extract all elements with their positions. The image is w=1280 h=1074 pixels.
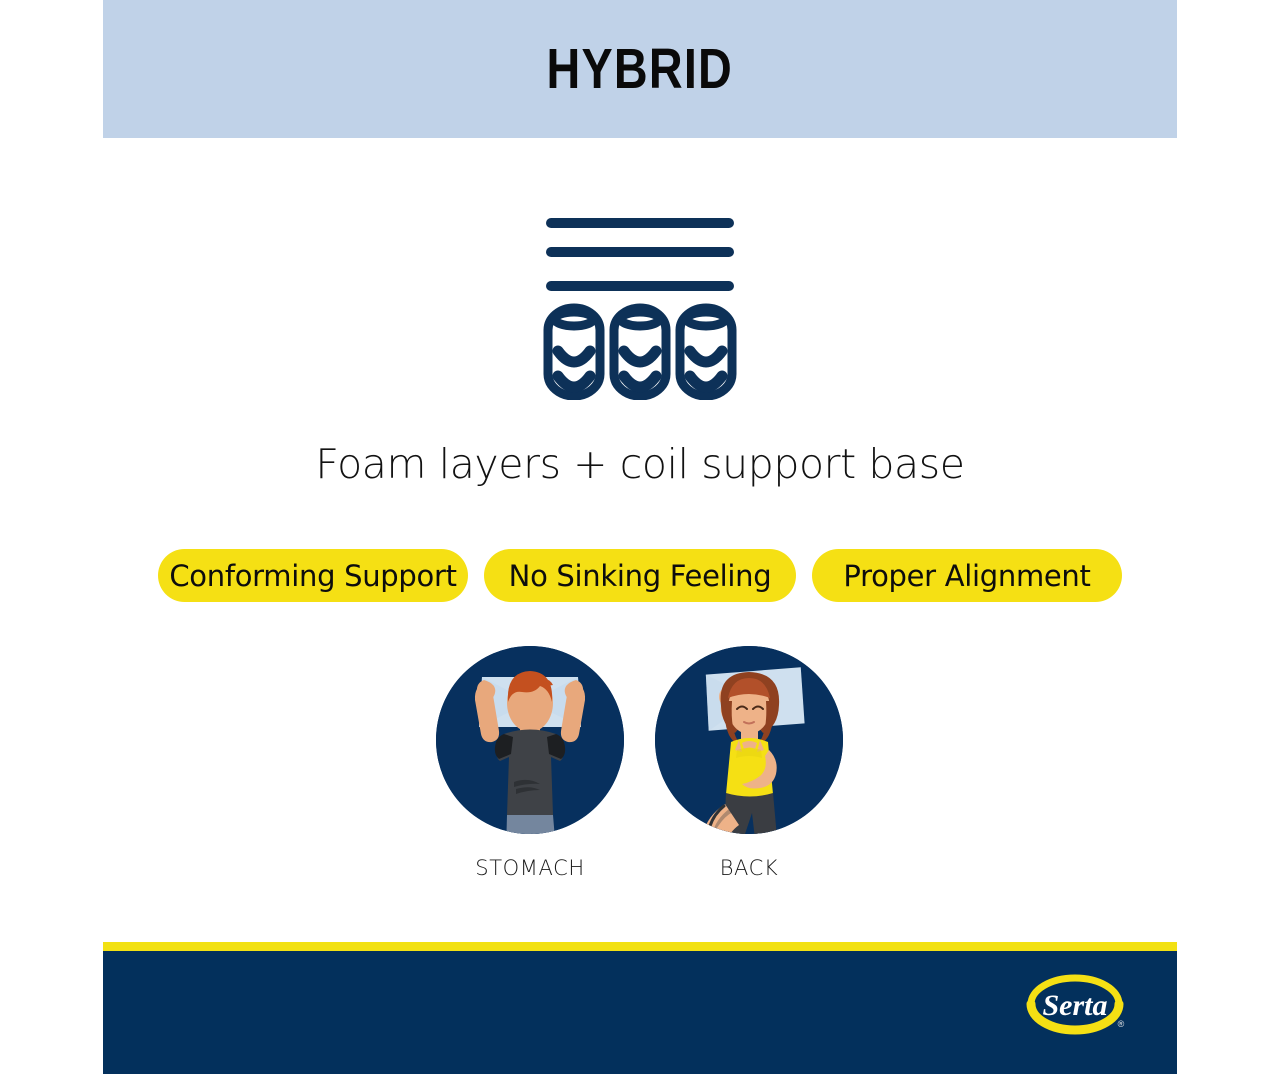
content-card: HYBRID	[103, 0, 1177, 1074]
registered-mark: ®	[1118, 1019, 1125, 1029]
back-sleeper-illustration	[655, 646, 843, 834]
coil-2	[614, 308, 666, 396]
subtitle: Foam layers + coil support base	[103, 440, 1177, 488]
back-sleeper-circle	[655, 646, 843, 834]
benefit-pill-conforming-support[interactable]: Conforming Support	[158, 549, 468, 602]
footer-accent-rule	[103, 942, 1177, 951]
serta-wordmark: Serta	[1042, 989, 1107, 1022]
sleep-position-label: STOMACH	[430, 856, 630, 880]
stomach-sleeper-circle	[436, 646, 624, 834]
hybrid-mattress-icon	[540, 200, 740, 400]
benefit-pill-label: No Sinking Feeling	[509, 559, 772, 593]
coil-1	[548, 308, 600, 396]
footer-bar: Serta ®	[103, 951, 1177, 1074]
benefit-pill-no-sinking-feeling[interactable]: No Sinking Feeling	[484, 549, 796, 602]
header-band: HYBRID	[103, 0, 1177, 138]
hybrid-icon-container	[103, 196, 1177, 404]
page-title: HYBRID	[547, 36, 734, 102]
benefit-pill-label: Proper Alignment	[843, 559, 1090, 593]
benefit-pill-proper-alignment[interactable]: Proper Alignment	[812, 549, 1122, 602]
sleep-position-back[interactable]: BACK	[649, 646, 849, 880]
benefit-pill-row: Conforming Support No Sinking Feeling Pr…	[158, 549, 1122, 602]
benefit-pill-label: Conforming Support	[169, 559, 456, 593]
infographic-page: HYBRID	[0, 0, 1280, 1074]
stomach-sleeper-illustration	[436, 646, 624, 834]
sleep-position-stomach[interactable]: STOMACH	[430, 646, 630, 880]
serta-logo: Serta ®	[1025, 969, 1129, 1039]
sleep-position-label: BACK	[649, 856, 849, 880]
sleep-positions: STOMACH	[103, 646, 1177, 916]
coil-3	[680, 308, 732, 396]
